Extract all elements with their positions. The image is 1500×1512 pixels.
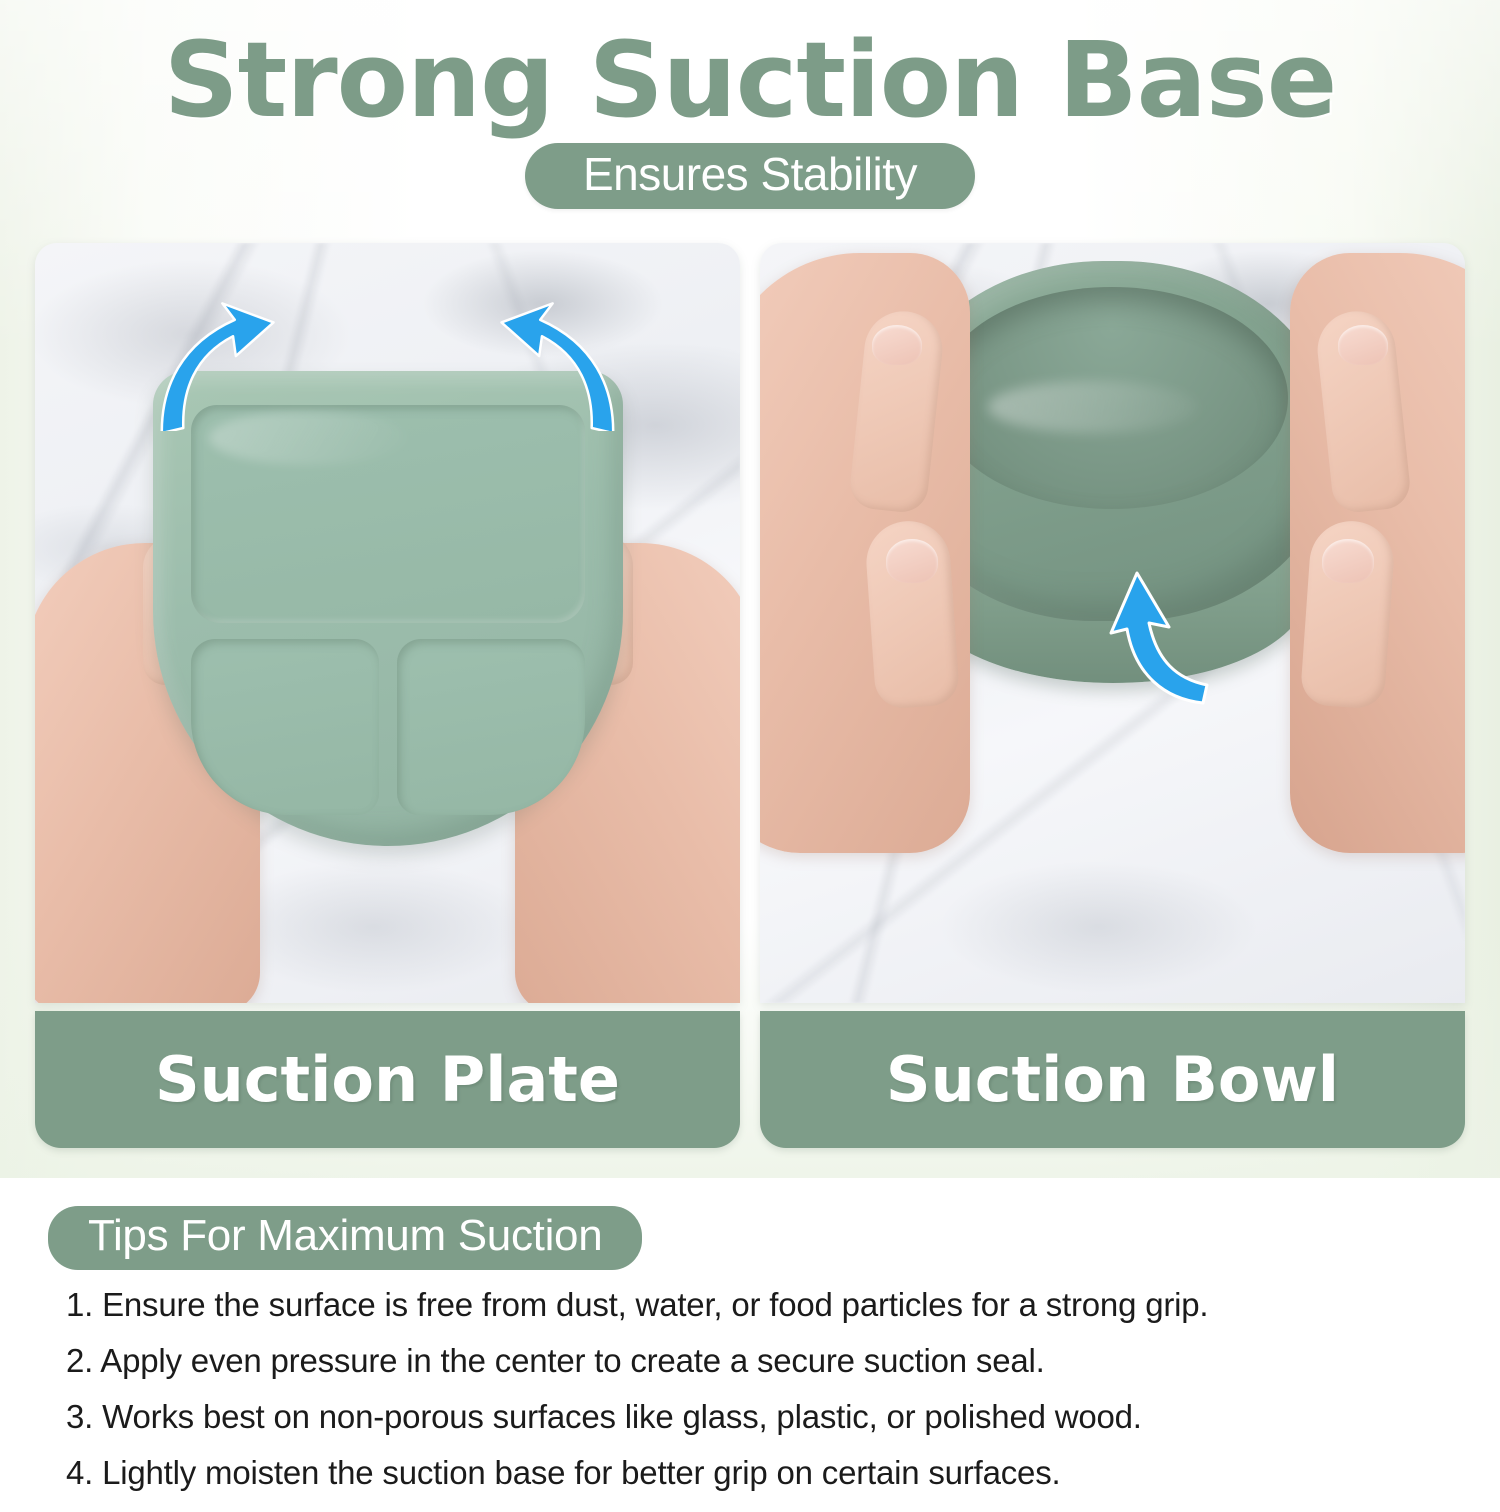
suction-arrow-left-icon xyxy=(145,301,285,431)
panel-suction-bowl: Suction Bowl xyxy=(760,243,1465,1148)
thumbnail xyxy=(1322,539,1374,583)
tip-item: 1. Ensure the surface is free from dust,… xyxy=(66,1288,1466,1321)
infographic-page: Strong Suction Base Ensures Stability xyxy=(0,0,1500,1500)
panel-suction-plate: Suction Plate xyxy=(35,243,740,1148)
thumbnail xyxy=(886,539,938,583)
caption-suction-bowl: Suction Bowl xyxy=(760,1011,1465,1148)
plate-compartment-bottom-left xyxy=(191,639,379,815)
subtitle-container: Ensures Stability xyxy=(0,143,1500,209)
photo-suction-plate xyxy=(35,243,740,1003)
left-hand xyxy=(760,253,970,853)
tip-item: 4. Lightly moisten the suction base for … xyxy=(66,1456,1466,1489)
tip-item: 2. Apply even pressure in the center to … xyxy=(66,1344,1466,1377)
photo-suction-bowl xyxy=(760,243,1465,1003)
caption-suction-plate: Suction Plate xyxy=(35,1011,740,1148)
tip-item: 3. Works best on non-porous surfaces lik… xyxy=(66,1400,1466,1433)
page-title: Strong Suction Base xyxy=(0,26,1500,135)
subtitle-pill: Ensures Stability xyxy=(525,143,975,209)
caption-label: Suction Bowl xyxy=(886,1043,1339,1116)
fingernail xyxy=(1338,325,1388,365)
header: Strong Suction Base Ensures Stability xyxy=(0,0,1500,230)
fingernail xyxy=(872,325,922,365)
tips-list: 1. Ensure the surface is free from dust,… xyxy=(66,1288,1466,1512)
plate-compartment-bottom-right xyxy=(397,639,585,815)
product-panels: Suction Plate xyxy=(0,243,1500,1148)
bowl-highlight xyxy=(988,381,1198,433)
suction-arrow-bowl-left-icon xyxy=(1107,557,1227,707)
silicone-divided-plate xyxy=(153,371,623,846)
tips-section: Tips For Maximum Suction 1. Ensure the s… xyxy=(0,1178,1500,1500)
suction-arrow-right-icon xyxy=(490,301,630,431)
caption-label: Suction Plate xyxy=(155,1043,620,1116)
tips-heading: Tips For Maximum Suction xyxy=(48,1206,642,1270)
right-hand xyxy=(1290,253,1465,853)
